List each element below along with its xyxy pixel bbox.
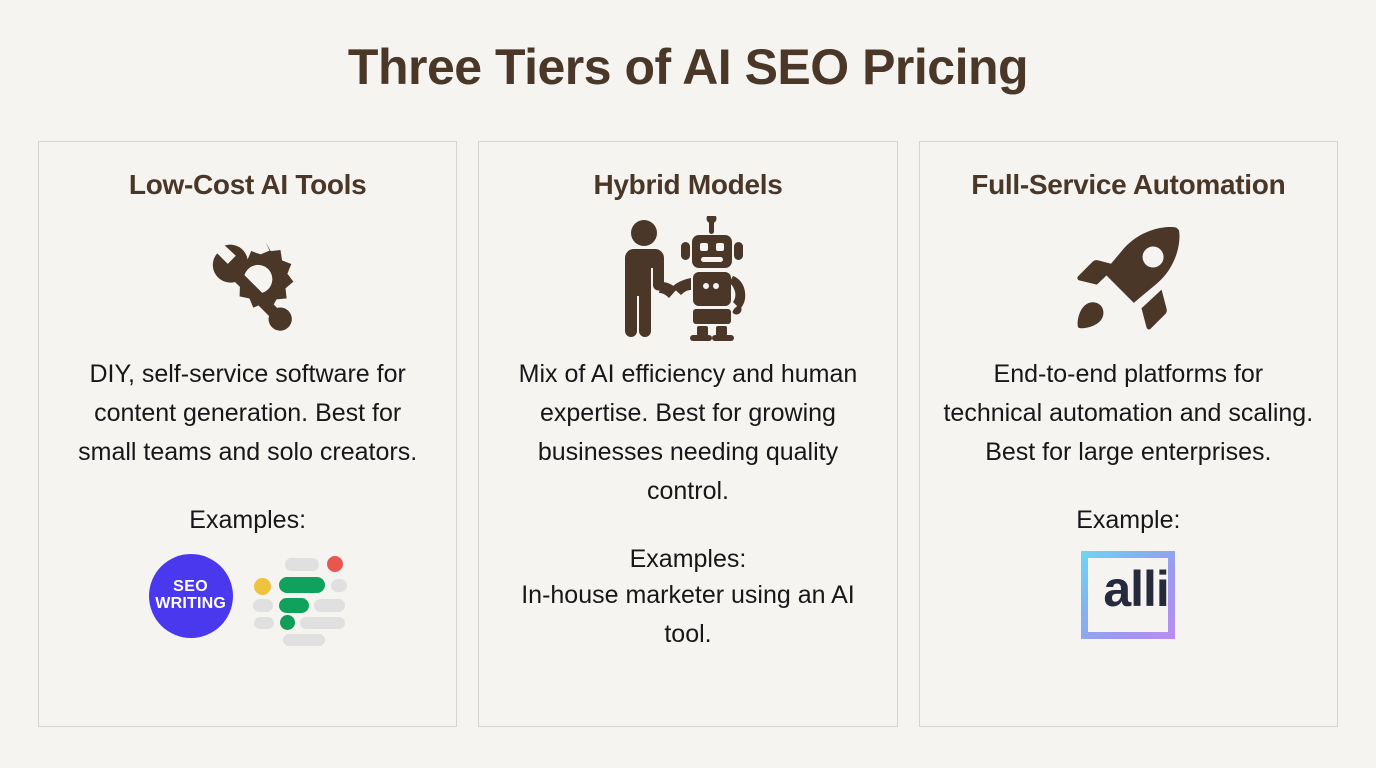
page-title: Three Tiers of AI SEO Pricing: [0, 38, 1376, 96]
card-title: Full-Service Automation: [971, 170, 1285, 201]
examples-label: Examples:: [630, 545, 747, 574]
pill-red-dot: [327, 556, 343, 572]
seo-writing-logo-line2: WRITING: [155, 596, 226, 613]
card-body: DIY, self-service software for content g…: [63, 355, 433, 472]
pill-gray-6: [300, 617, 345, 629]
tier-card-low-cost: Low-Cost AI Tools DIY, self-service soft…: [38, 141, 457, 727]
card-body: End-to-end platforms for technical autom…: [943, 355, 1313, 472]
examples-label: Examples:: [189, 506, 306, 535]
card-title: Hybrid Models: [593, 170, 782, 201]
seo-writing-logo: SEO WRITING: [149, 554, 233, 638]
pill-yellow-dot: [254, 578, 271, 595]
pill-green-dot: [280, 615, 295, 630]
pill-gray-2: [331, 579, 347, 592]
logo-row: alli: [1081, 551, 1175, 639]
seo-writing-logo-line1: SEO: [173, 579, 208, 596]
pill-gray-7: [283, 634, 325, 646]
pill-gray-4: [314, 599, 345, 612]
rocket-icon: [1068, 213, 1188, 345]
card-body: Mix of AI efficiency and human expertise…: [503, 355, 873, 511]
logo-row: SEO WRITING: [149, 551, 347, 641]
examples-label: Example:: [1076, 506, 1180, 535]
pill-green-2: [279, 598, 309, 613]
alli-logo-label: alli: [1103, 564, 1168, 614]
infographic-page: Three Tiers of AI SEO Pricing Low-Cost A…: [0, 0, 1376, 768]
human-robot-handshake-icon: [613, 213, 763, 345]
tier-cards-row: Low-Cost AI Tools DIY, self-service soft…: [38, 141, 1338, 727]
pill-grid-logo: [251, 551, 347, 641]
tier-card-full-service: Full-Service Automation End-to-end platf…: [919, 141, 1338, 727]
alli-logo: alli: [1081, 551, 1175, 639]
tier-card-hybrid: Hybrid Models: [478, 141, 897, 727]
gear-wrench-icon: [188, 213, 308, 345]
pill-green-1: [279, 577, 325, 593]
card-title: Low-Cost AI Tools: [129, 170, 367, 201]
pill-gray-1: [285, 558, 319, 571]
example-text: In-house marketer using an AI tool.: [495, 576, 880, 654]
pill-gray-5: [254, 617, 274, 629]
pill-gray-3: [253, 599, 273, 612]
